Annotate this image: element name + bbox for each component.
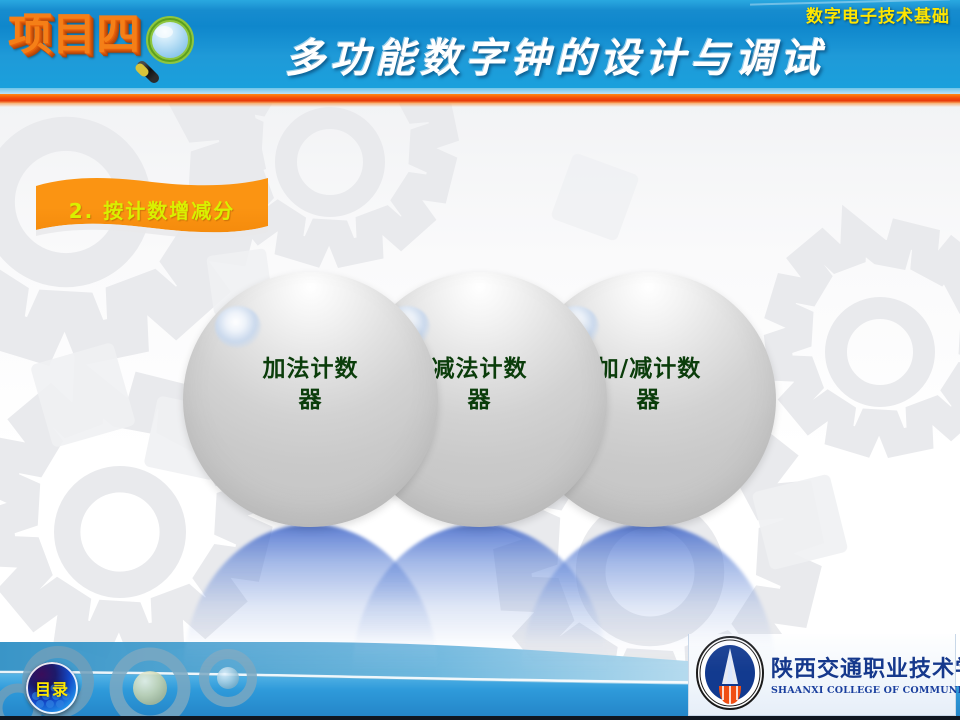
concept-circle-up-counter[interactable]: 加法计数 器: [183, 272, 438, 527]
school-name-cn: 陕西交通职业技术学院: [771, 651, 960, 683]
section-banner: 2. 按计数增减分: [36, 176, 268, 238]
project-badge: 项 目 四: [6, 8, 194, 86]
concept-circle-label: 加法计数 器: [205, 354, 416, 416]
header-accent-glow: [0, 103, 960, 107]
circle-gloss-highlight: [215, 306, 261, 348]
slide-header: 项 目 四: [0, 0, 960, 94]
page-title: 多功能数字钟的设计与调试: [205, 26, 905, 84]
header-accent-band: [0, 94, 960, 103]
slide-bottom-edge: [0, 716, 960, 720]
project-badge-char-2: 目: [52, 10, 96, 60]
concept-circle-label-line2: 器: [205, 385, 416, 416]
section-banner-label: 2. 按计数增减分: [36, 176, 268, 238]
slide-canvas: 项 目 四: [0, 0, 960, 720]
concept-circle-label-line1: 加法计数: [205, 354, 416, 385]
magnifier-icon: [134, 14, 196, 84]
school-name-en: SHAANXI COLLEGE OF COMMUNICATION TECHNOL…: [771, 685, 960, 696]
course-label: 数字电子技术基础: [806, 2, 950, 27]
project-badge-char-1: 项: [8, 10, 52, 60]
school-name-block: 陕西交通职业技术学院 SHAANXI COLLEGE OF COMMUNICAT…: [771, 651, 960, 696]
table-of-contents-button[interactable]: 目录: [26, 662, 78, 714]
table-of-contents-label: 目录: [26, 662, 78, 714]
